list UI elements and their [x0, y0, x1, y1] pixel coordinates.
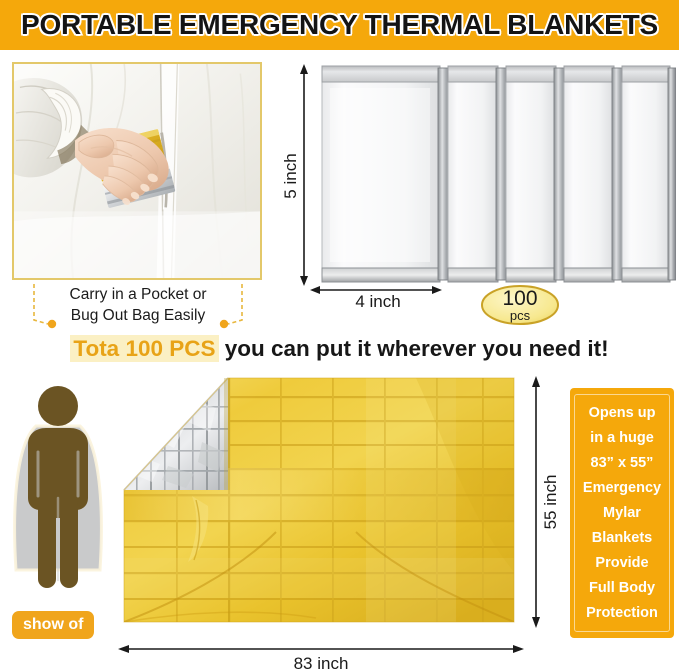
person-silhouette-svg: [6, 378, 110, 608]
blanket-width-dimension-svg: 83 inch: [112, 642, 530, 672]
packet-group: [322, 66, 676, 282]
benefit-line-1: in a huge: [590, 426, 654, 451]
tagline: Tota 100 PCS you can put it wherever you…: [0, 336, 679, 362]
photo-caption-line-1: Carry in a Pocket or: [22, 284, 254, 305]
packaging-diagram: 5 inch: [278, 58, 676, 298]
opened-blanket: [116, 372, 526, 640]
pcs-badge-unit: pcs: [510, 308, 531, 323]
photo-caption: Carry in a Pocket or Bug Out Bag Easily: [22, 284, 254, 326]
blanket-width-label: 83 inch: [294, 654, 349, 672]
opened-blanket-svg: [116, 372, 526, 640]
pocket-photo-panel: [12, 62, 262, 280]
pcs-badge-svg: 100 pcs: [480, 284, 560, 326]
pocket-photo-image: [14, 64, 260, 278]
head-shape: [38, 386, 78, 426]
tagline-highlight: Tota 100 PCS: [70, 335, 218, 362]
blanket-height-dimension: 55 inch: [526, 372, 566, 640]
benefit-line-3: Emergency: [583, 476, 661, 501]
product-infographic: PORTABLE EMERGENCY THERMAL BLANKETS: [0, 0, 679, 672]
photo-caption-group: Carry in a Pocket or Bug Out Bag Easily: [22, 284, 254, 330]
page-title: PORTABLE EMERGENCY THERMAL BLANKETS: [21, 9, 658, 41]
packaging-diagram-svg: 5 inch: [278, 58, 676, 298]
pcs-badge-count: 100: [502, 287, 537, 310]
benefit-line-4: Mylar: [603, 501, 641, 526]
benefit-line-6: Provide: [595, 551, 648, 576]
benefit-line-0: Opens up: [589, 401, 656, 426]
benefit-panel-inner: Opens upin a huge83” x 55”EmergencyMylar…: [574, 394, 670, 632]
height-label: 5 inch: [281, 153, 300, 198]
pcs-badge: 100 pcs: [480, 284, 560, 326]
height-arrow: [300, 64, 308, 286]
person-silhouette: [6, 378, 110, 608]
photo-caption-line-2: Bug Out Bag Easily: [22, 305, 254, 326]
header-banner: PORTABLE EMERGENCY THERMAL BLANKETS: [0, 0, 679, 50]
benefit-line-2: 83” x 55”: [591, 451, 654, 476]
blanket-height-dimension-svg: 55 inch: [526, 372, 566, 640]
packaging-width-label: 4 inch: [278, 292, 478, 312]
benefit-line-5: Blankets: [592, 526, 652, 551]
tagline-rest: you can put it wherever you need it!: [225, 336, 609, 361]
blanket-width-dimension: 83 inch: [112, 642, 530, 672]
benefit-line-7: Full Body: [589, 576, 655, 601]
benefit-panel: Opens upin a huge83” x 55”EmergencyMylar…: [570, 388, 674, 638]
blanket-height-label: 55 inch: [541, 475, 560, 530]
benefit-line-8: Protection: [586, 601, 658, 626]
show-of-label: show of: [12, 611, 94, 639]
